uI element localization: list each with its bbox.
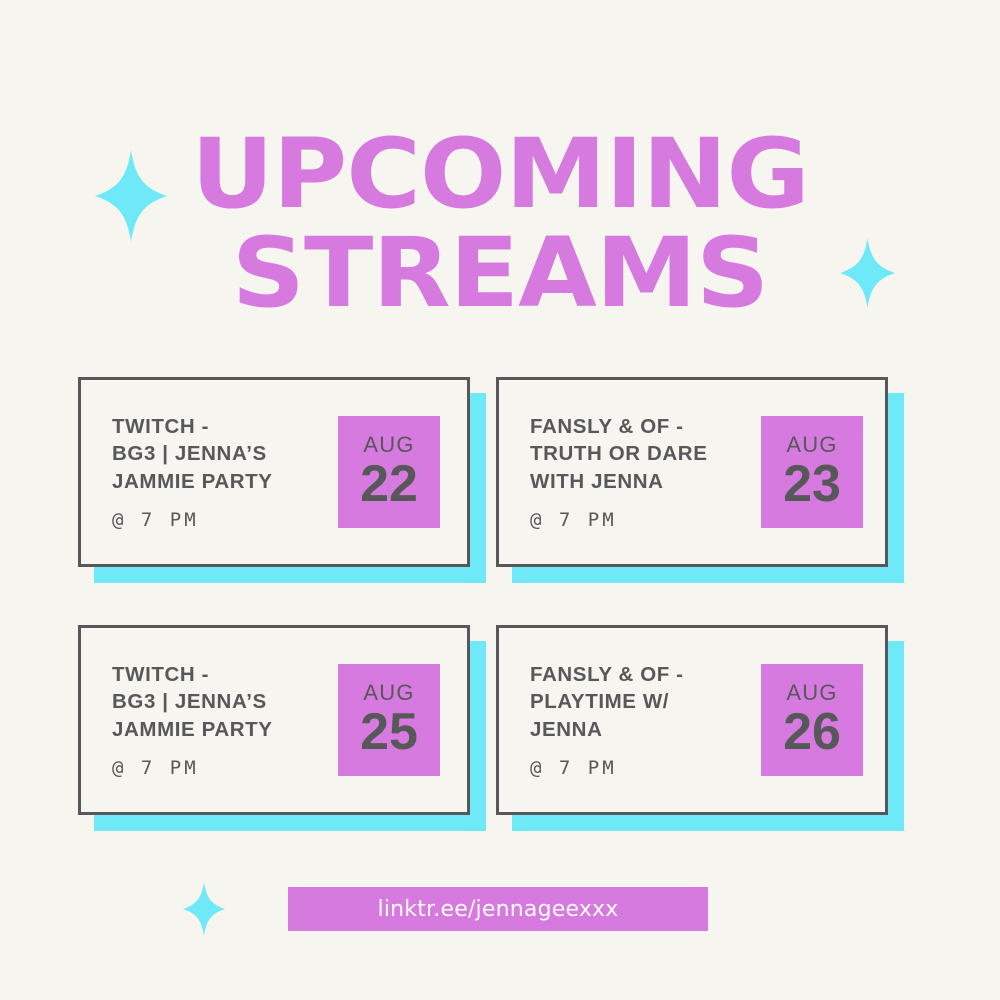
card-title: TWITCH - BG3 | JENNA’S JAMMIE PARTY [112, 413, 334, 494]
card-text-block: FANSLY & OF - PLAYTIME W/ JENNA @ 7 PM [499, 661, 761, 778]
stream-card[interactable]: FANSLY & OF - PLAYTIME W/ JENNA @ 7 PM A… [496, 625, 888, 815]
date-badge: AUG 22 [338, 416, 440, 528]
card-body: TWITCH - BG3 | JENNA’S JAMMIE PARTY @ 7 … [78, 377, 470, 567]
linktree-link-button[interactable]: linktr.ee/jennageexxx [288, 887, 708, 931]
card-time: @ 7 PM [112, 509, 334, 531]
card-body: FANSLY & OF - PLAYTIME W/ JENNA @ 7 PM A… [496, 625, 888, 815]
date-month: AUG [786, 682, 837, 704]
sparkle-icon [840, 238, 895, 308]
card-time: @ 7 PM [530, 757, 757, 779]
card-time: @ 7 PM [530, 509, 757, 531]
date-day: 22 [360, 458, 418, 510]
date-month: AUG [363, 682, 414, 704]
card-title: FANSLY & OF - TRUTH OR DARE WITH JENNA [530, 413, 757, 494]
card-time: @ 7 PM [112, 757, 334, 779]
poster-canvas: UPCOMING STREAMS TWITCH - BG3 | JENNA’S … [0, 0, 1000, 1000]
card-title: TWITCH - BG3 | JENNA’S JAMMIE PARTY [112, 661, 334, 742]
date-day: 26 [783, 706, 841, 758]
date-badge: AUG 26 [761, 664, 863, 776]
date-day: 23 [783, 458, 841, 510]
date-month: AUG [363, 434, 414, 456]
date-month: AUG [786, 434, 837, 456]
card-text-block: FANSLY & OF - TRUTH OR DARE WITH JENNA @… [499, 413, 761, 530]
sparkle-icon [183, 882, 225, 936]
sparkle-icon [95, 150, 167, 242]
card-text-block: TWITCH - BG3 | JENNA’S JAMMIE PARTY @ 7 … [81, 661, 338, 778]
date-day: 25 [360, 706, 418, 758]
linktree-link-label: linktr.ee/jennageexxx [378, 897, 619, 922]
stream-card[interactable]: TWITCH - BG3 | JENNA’S JAMMIE PARTY @ 7 … [78, 625, 470, 815]
card-body: FANSLY & OF - TRUTH OR DARE WITH JENNA @… [496, 377, 888, 567]
card-text-block: TWITCH - BG3 | JENNA’S JAMMIE PARTY @ 7 … [81, 413, 338, 530]
stream-card[interactable]: TWITCH - BG3 | JENNA’S JAMMIE PARTY @ 7 … [78, 377, 470, 567]
stream-card[interactable]: FANSLY & OF - TRUTH OR DARE WITH JENNA @… [496, 377, 888, 567]
date-badge: AUG 25 [338, 664, 440, 776]
date-badge: AUG 23 [761, 416, 863, 528]
card-body: TWITCH - BG3 | JENNA’S JAMMIE PARTY @ 7 … [78, 625, 470, 815]
card-title: FANSLY & OF - PLAYTIME W/ JENNA [530, 661, 757, 742]
